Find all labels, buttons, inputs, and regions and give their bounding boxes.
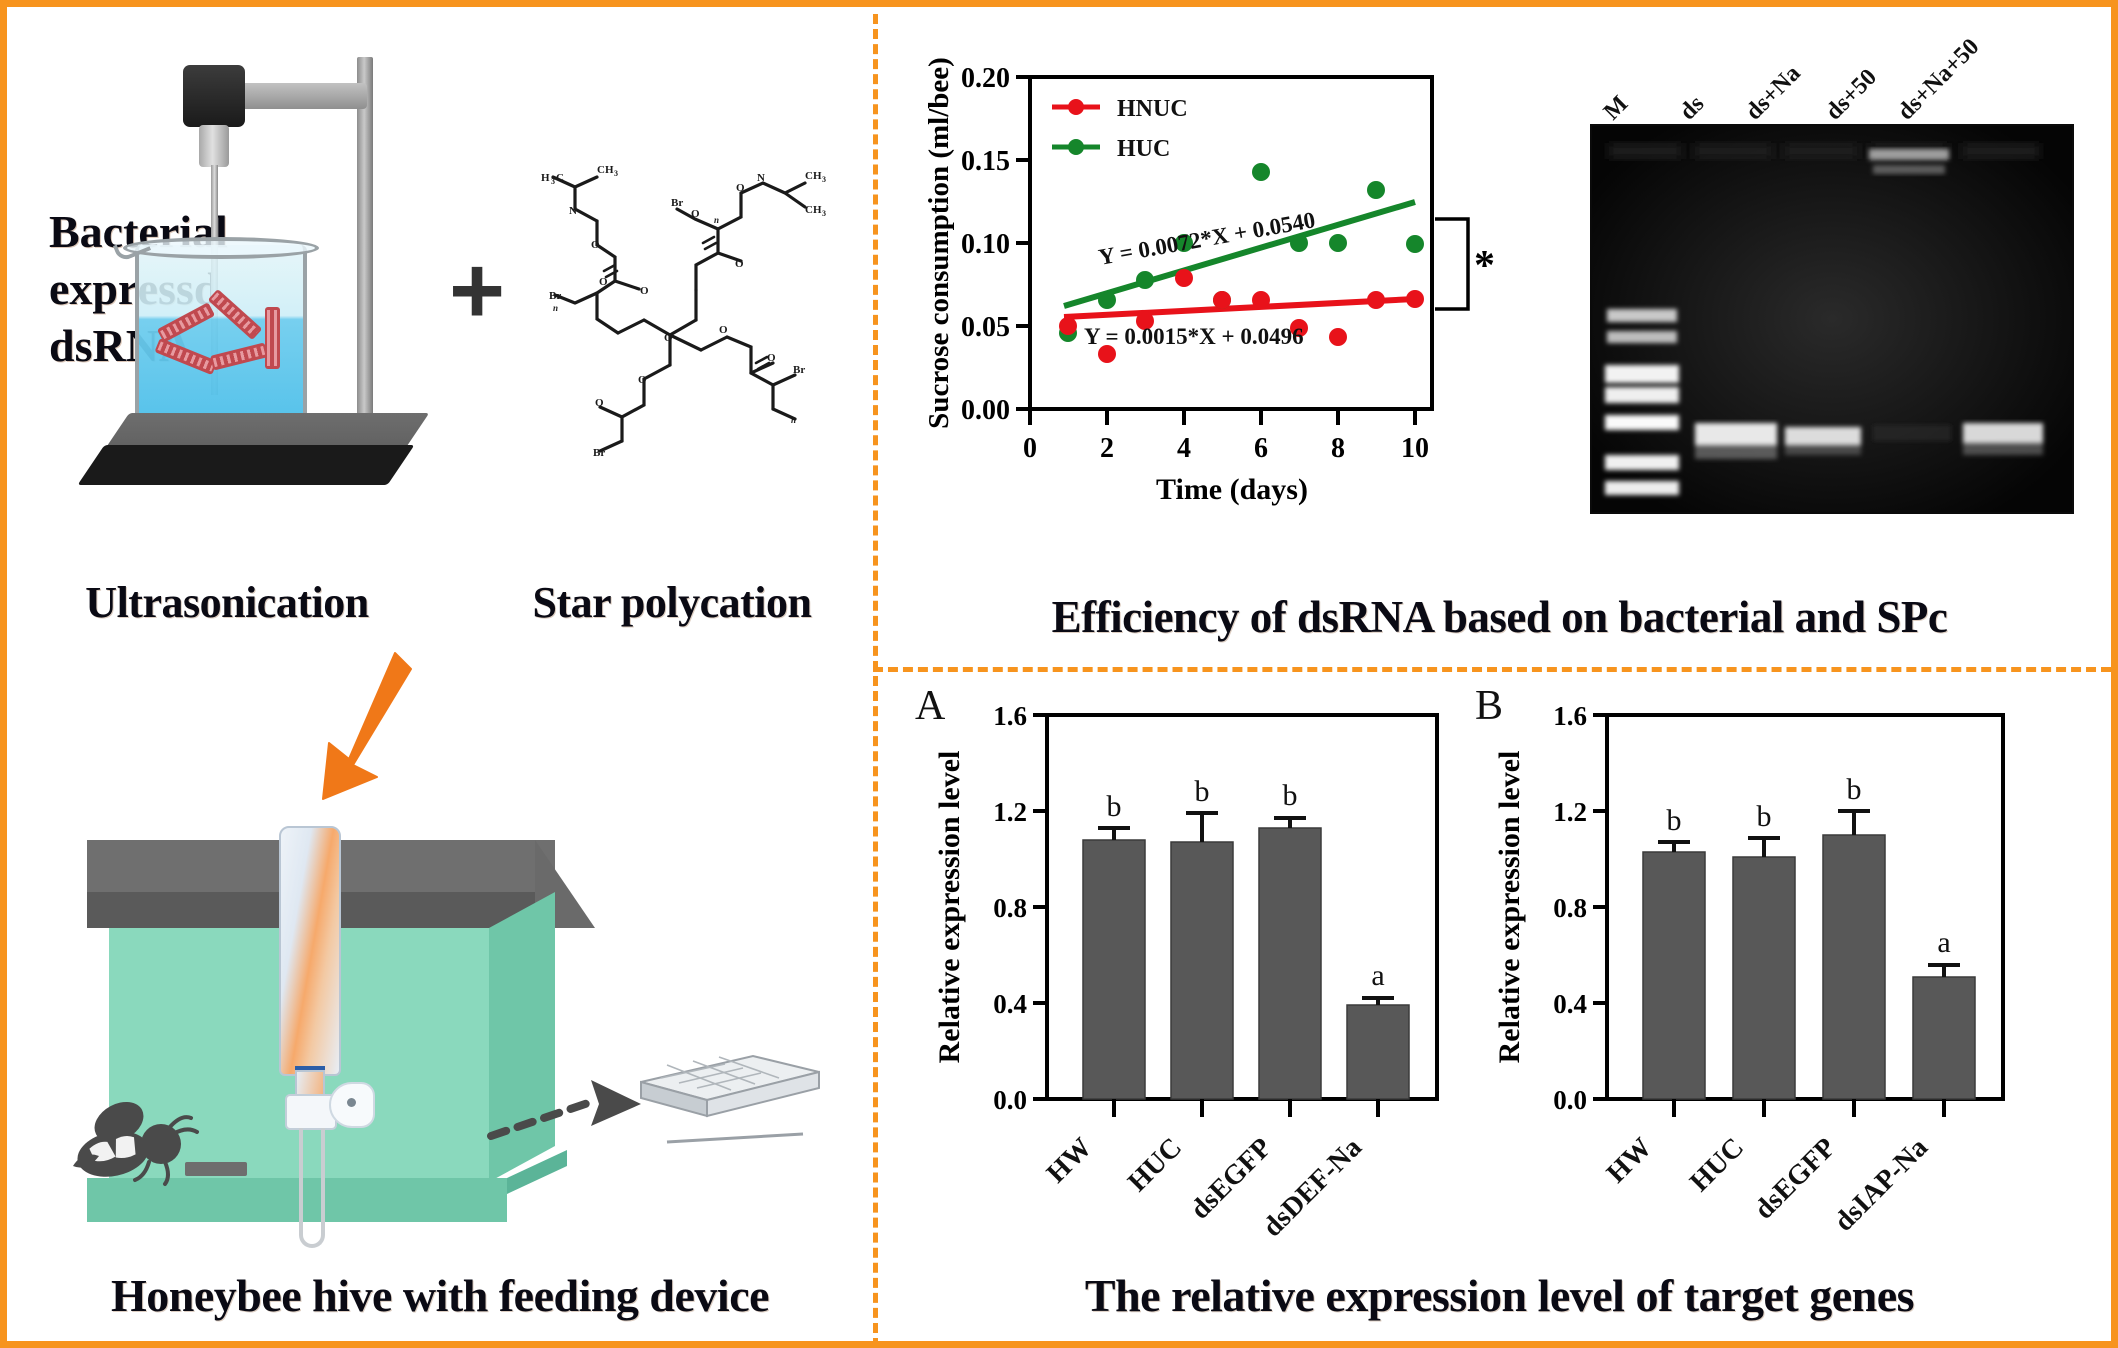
dsrna-strand-icon (157, 302, 215, 342)
svg-text:3: 3 (551, 177, 555, 186)
significance-asterisk: * (1474, 243, 1495, 289)
gel-lane-label: M (1599, 91, 1633, 125)
svg-text:b: b (1667, 804, 1682, 837)
barA-ytick: 0.0 (993, 1085, 1027, 1115)
scatter-xtick: 0 (1023, 433, 1037, 464)
svg-text:CH: CH (805, 204, 822, 216)
barB-xtick: dsEGFP (1749, 1132, 1842, 1225)
svg-text:b: b (1283, 779, 1298, 812)
star-polycation-caption: Star polycation (487, 577, 857, 628)
scatter-xlabel: Time (days) (1156, 473, 1308, 506)
gel-lane-label: ds+50 (1821, 64, 1882, 125)
svg-text:O: O (638, 374, 647, 386)
bottle-neck-icon (295, 1070, 325, 1096)
sucrose-consumption-chart: 0.20 0.15 0.10 0.05 0.00 0 2 4 6 8 (912, 37, 1512, 557)
panel-letter-b: B (1475, 683, 1503, 729)
sonicator-plate-base-icon (78, 445, 415, 485)
panel-letter-a: A (915, 683, 946, 729)
svg-text:O: O (767, 352, 776, 364)
graphical-abstract-frame: Bacterial expressd dsRNA + (0, 0, 2118, 1348)
scatter-ytick: 0.10 (961, 229, 1010, 260)
barA-xtick: dsEGFP (1185, 1132, 1278, 1225)
barB-xticklabels: HW HUC dsEGFP dsIAP-Na (1601, 1132, 1934, 1238)
ultrasonication-caption: Ultrasonication (47, 577, 407, 628)
svg-text:N: N (757, 172, 765, 184)
svg-text:O: O (599, 276, 608, 288)
barA-xtick: dsDEF-Na (1257, 1132, 1368, 1243)
stand-arm-icon (227, 83, 367, 109)
svg-text:b: b (1107, 790, 1122, 823)
svg-text:b: b (1757, 800, 1772, 833)
scatter-xtick: 10 (1401, 433, 1429, 464)
svg-text:O: O (595, 397, 604, 409)
barB-xtick: HW (1601, 1132, 1658, 1189)
sonicator-head-icon (183, 65, 245, 127)
svg-text:b: b (1195, 775, 1210, 808)
barA-ytick: 0.4 (993, 989, 1027, 1019)
scatter-xtick: 6 (1254, 433, 1268, 464)
relative-expression-caption: The relative expression level of target … (887, 1269, 2112, 1322)
gel-band-ds-50 (1873, 425, 1951, 441)
svg-text:O: O (691, 208, 700, 220)
barB-ytick: 0.0 (1553, 1085, 1587, 1115)
gel-band-ds-na-50 (1963, 423, 2043, 443)
barB-xtick: dsIAP-Na (1828, 1132, 1934, 1238)
svg-text:n: n (714, 215, 719, 225)
svg-text:O: O (736, 182, 745, 194)
svg-text:3: 3 (614, 169, 618, 178)
svg-text:Br: Br (593, 447, 605, 457)
svg-text:3: 3 (822, 175, 826, 184)
barB-xtick: HUC (1684, 1132, 1750, 1198)
gel-band-ds-na (1785, 427, 1861, 445)
scatter-xtick: 4 (1177, 433, 1191, 464)
svg-text:O: O (664, 332, 673, 344)
star-polycation-structure: H3C CH3 N O O O Br n CH3 CH3 N O O O Br … (505, 157, 835, 457)
svg-text:O: O (719, 324, 728, 336)
svg-text:a: a (1371, 959, 1384, 992)
efficiency-caption: Efficiency of dsRNA based on bacterial a… (887, 591, 2112, 643)
honeybee-icon (65, 1082, 215, 1192)
gel-marker-ladder (1605, 309, 1679, 495)
barB-ytick: 0.4 (1553, 989, 1587, 1019)
svg-text:n: n (553, 303, 558, 313)
svg-text:a: a (1937, 926, 1950, 959)
svg-text:Br: Br (671, 197, 683, 209)
vertical-divider (873, 14, 878, 1348)
relative-expression-chart-a: A 1.6 1.2 0.8 0.4 0.0 Relative expressio… (897, 679, 1457, 1259)
barA-ytick: 1.6 (993, 701, 1027, 731)
hive-illustration (67, 782, 707, 1242)
significance-bracket (1435, 219, 1468, 309)
svg-text:b: b (1847, 773, 1862, 806)
svg-text:O: O (591, 239, 600, 251)
barB-ytick: 1.2 (1553, 797, 1587, 827)
honeybee-hive-caption: Honeybee hive with feeding device (25, 1269, 855, 1322)
barA-ytick: 1.2 (993, 797, 1027, 827)
beaker-icon (135, 245, 307, 435)
svg-text:H: H (541, 172, 550, 184)
barA-xtick: HW (1041, 1132, 1098, 1189)
gel-band-ds (1695, 423, 1777, 445)
legend-label-hnuc: HNUC (1117, 96, 1188, 122)
barB-ytick: 0.8 (1553, 893, 1587, 923)
dsrna-strand-icon (208, 289, 263, 340)
barA-xticklabels: HW HUC dsEGFP dsDEF-Na (1041, 1132, 1368, 1243)
gel-lane-label: ds (1675, 91, 1709, 125)
barA-xtick: HUC (1122, 1132, 1188, 1198)
scatter-ytick: 0.00 (961, 395, 1010, 426)
svg-text:n: n (791, 415, 796, 425)
stand-pole-icon (357, 57, 373, 417)
barA-ytick: 0.8 (993, 893, 1027, 923)
svg-text:Br: Br (549, 290, 561, 302)
scatter-ytick: 0.05 (961, 312, 1010, 343)
scatter-ytick: 0.15 (961, 146, 1010, 177)
feeder-bottle-icon (279, 826, 341, 1076)
scatter-ylabel: Sucrose consumption (ml/bee) (923, 57, 955, 429)
gel-lane-label: ds+Na+50 (1893, 34, 1984, 125)
gel-electrophoresis-image: M ds ds+Na ds+50 ds+Na+50 (1577, 25, 2087, 525)
barB-ytick: 1.6 (1553, 701, 1587, 731)
sample-tray-icon (627, 1050, 827, 1160)
dsrna-strand-icon (265, 307, 280, 369)
barB-ylabel: Relative expression level (1493, 751, 1526, 1064)
svg-text:C: C (556, 172, 564, 184)
svg-text:O: O (640, 285, 649, 297)
scatter-xtick: 2 (1100, 433, 1114, 464)
horizontal-divider (873, 667, 2111, 672)
relative-expression-chart-b: B 1.6 1.2 0.8 0.4 0.0 Relative expressio… (1457, 679, 2027, 1259)
svg-text:N: N (569, 205, 577, 217)
svg-text:CH: CH (805, 170, 822, 182)
beaker-rim-icon (123, 237, 319, 259)
svg-text:CH: CH (597, 164, 614, 176)
sonicator-illustration (107, 47, 437, 477)
svg-text:3: 3 (822, 209, 826, 218)
gel-lane-label: ds+Na (1741, 60, 1806, 125)
svg-text:Br: Br (793, 364, 805, 376)
barA-ylabel: Relative expression level (933, 751, 966, 1064)
dsrna-strand-icon (154, 338, 217, 375)
legend-label-huc: HUC (1117, 136, 1170, 162)
hnuc-fit-equation: Y = 0.0015*X + 0.0496 (1084, 324, 1304, 349)
feeder-tube-icon (299, 1128, 325, 1248)
sonicator-neck-icon (199, 125, 229, 167)
plus-sign: + (449, 243, 505, 339)
scatter-xtick: 8 (1331, 433, 1345, 464)
scatter-ytick: 0.20 (961, 63, 1010, 94)
bottle-clip-screw-icon (347, 1098, 356, 1107)
dsrna-strand-icon (210, 342, 268, 370)
svg-text:O: O (735, 258, 744, 270)
